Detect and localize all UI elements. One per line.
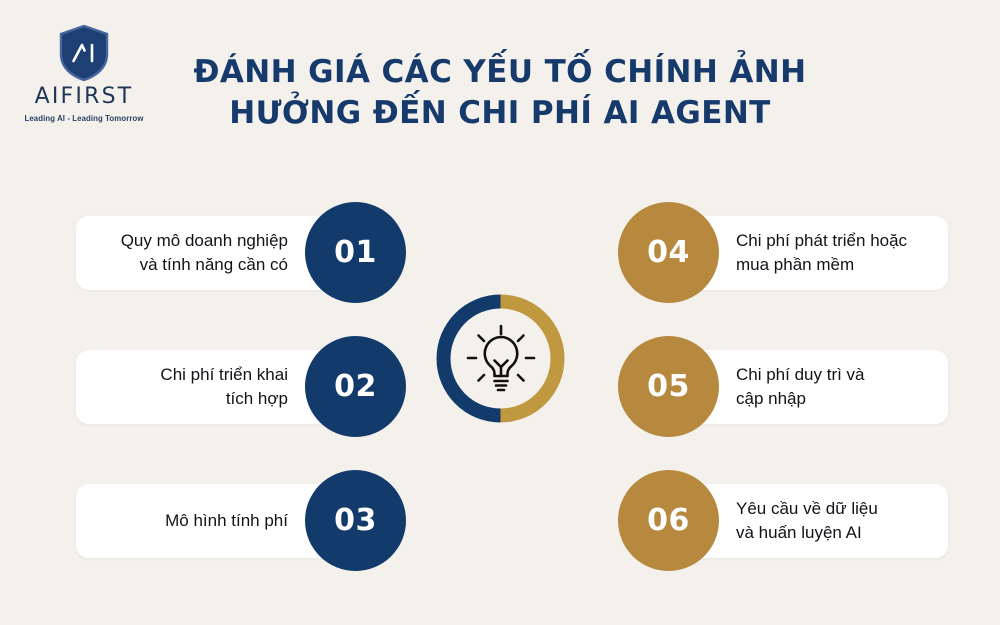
factor-label-line-1: Quy mô doanh nghiệp bbox=[121, 231, 288, 250]
factor-number-badge: 02 bbox=[305, 336, 406, 437]
factor-number-badge: 05 bbox=[618, 336, 719, 437]
factor-number-badge: 01 bbox=[305, 202, 406, 303]
factor-label-line-1: Chi phí triển khai bbox=[160, 365, 288, 384]
factor-label: Quy mô doanh nghiệp và tính năng cần có bbox=[121, 229, 288, 277]
factors-column-left: Quy mô doanh nghiệp và tính năng cần có … bbox=[76, 202, 406, 571]
page-title: ĐÁNH GIÁ CÁC YẾU TỐ CHÍNH ẢNH HƯỞNG ĐẾN … bbox=[180, 52, 820, 134]
factor-label: Yêu cầu về dữ liệu và huấn luyện AI bbox=[736, 497, 878, 545]
lightbulb-icon bbox=[465, 323, 537, 395]
factor-label: Mô hình tính phí bbox=[165, 509, 288, 533]
factor-label-line-2: mua phần mềm bbox=[736, 255, 854, 274]
brand-tagline: Leading AI - Leading Tomorrow bbox=[14, 115, 154, 123]
factor-number-badge: 04 bbox=[618, 202, 719, 303]
page-title-line-2: HƯỞNG ĐẾN CHI PHÍ AI AGENT bbox=[180, 93, 820, 134]
page-title-line-1: ĐÁNH GIÁ CÁC YẾU TỐ CHÍNH ẢNH bbox=[180, 52, 820, 93]
factor-label: Chi phí triển khai tích hợp bbox=[160, 363, 288, 411]
brand-logo: AIFIRST Leading AI - Leading Tomorrow bbox=[14, 24, 154, 123]
factor-label-line-2: và tính năng cần có bbox=[140, 255, 288, 274]
factor-label-line-2: và huấn luyện AI bbox=[736, 523, 862, 542]
factor-number-badge: 03 bbox=[305, 470, 406, 571]
factor-number-badge: 06 bbox=[618, 470, 719, 571]
factor-label: Chi phí duy trì và cập nhập bbox=[736, 363, 865, 411]
factor-label-line-1: Mô hình tính phí bbox=[165, 511, 288, 530]
factor-label-line-1: Chi phí duy trì và bbox=[736, 365, 865, 384]
factor-label: Chi phí phát triển hoặc mua phần mềm bbox=[736, 229, 907, 277]
brand-name: AIFIRST bbox=[14, 86, 154, 108]
factor-item-04[interactable]: Chi phí phát triển hoặc mua phần mềm 04 bbox=[618, 202, 948, 303]
factors-column-right: Chi phí phát triển hoặc mua phần mềm 04 … bbox=[618, 202, 948, 571]
factor-label-line-2: cập nhập bbox=[736, 389, 806, 408]
factor-item-06[interactable]: Yêu cầu về dữ liệu và huấn luyện AI 06 bbox=[618, 470, 948, 571]
factor-label-line-1: Yêu cầu về dữ liệu bbox=[736, 499, 878, 518]
center-graphic bbox=[423, 281, 578, 436]
factor-label-line-1: Chi phí phát triển hoặc bbox=[736, 231, 907, 250]
factor-item-02[interactable]: Chi phí triển khai tích hợp 02 bbox=[76, 336, 406, 437]
shield-ai-icon bbox=[58, 24, 110, 82]
factor-label-line-2: tích hợp bbox=[226, 389, 288, 408]
factor-item-01[interactable]: Quy mô doanh nghiệp và tính năng cần có … bbox=[76, 202, 406, 303]
factor-item-03[interactable]: Mô hình tính phí 03 bbox=[76, 470, 406, 571]
factor-item-05[interactable]: Chi phí duy trì và cập nhập 05 bbox=[618, 336, 948, 437]
